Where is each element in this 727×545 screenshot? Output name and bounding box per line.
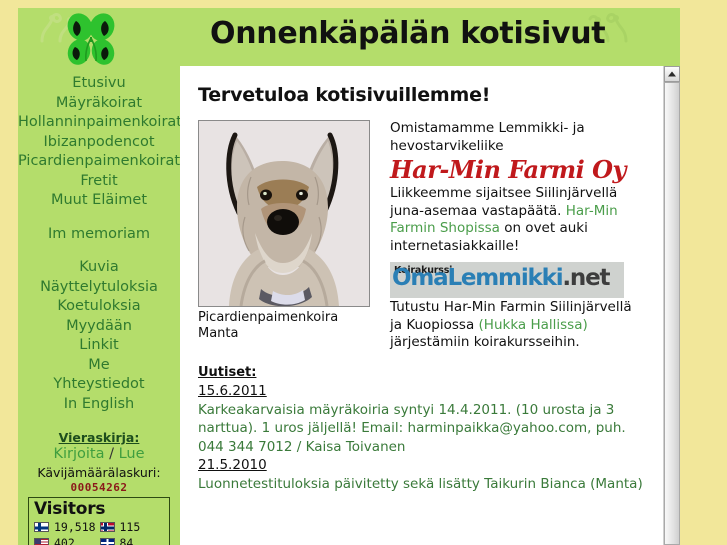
photo-column: Picardienpaimenkoira Manta xyxy=(198,120,390,341)
sidebar-item-hollanninpaimenkoirat[interactable]: Hollanninpaimenkoirat xyxy=(18,113,180,133)
flag-counter-cell-united-kingdom: 84 xyxy=(100,536,166,545)
flag-counter-row: 19,518 115 xyxy=(34,519,165,535)
news-item-date: 15.6.2011 xyxy=(198,382,267,401)
flag-icon-finland xyxy=(34,522,49,532)
frame-band-left xyxy=(0,0,18,545)
visitor-counter-digits: 00054262 xyxy=(18,481,180,494)
hukka-halli-link[interactable]: (Hukka Hallissa) xyxy=(479,317,588,333)
sidebar-item-mayrakoirat[interactable]: Mäyräkoirat xyxy=(18,94,180,114)
four-leaf-clover-icon xyxy=(58,11,124,67)
sidebar-item-myydaan[interactable]: Myydään xyxy=(18,317,180,337)
scrollbar-thumb[interactable] xyxy=(664,82,680,545)
intro-line-1: Omistamamme Lemmikki- ja xyxy=(390,120,646,138)
guestbook-heading: Vieraskirja: xyxy=(18,430,180,445)
triangle-up-icon xyxy=(668,72,676,77)
scrollbar-track[interactable] xyxy=(664,82,680,545)
banner-name: OmaLemmikki xyxy=(392,265,562,291)
flag-counter-count: 84 xyxy=(120,536,134,545)
course-paragraph: Tutustu Har-Min Farmin Siilinjärvellä ja… xyxy=(390,299,646,352)
sidebar-item-me[interactable]: Me xyxy=(18,356,180,376)
flag-counter-cell-united-states: 402 xyxy=(34,536,100,545)
sidebar-item-linkit[interactable]: Linkit xyxy=(18,336,180,356)
intro-paragraph: Liikkeemme sijaitsee Siilinjärvellä juna… xyxy=(390,185,646,255)
news-item: 21.5.2010 Luonnetestituloksia päivitetty… xyxy=(198,456,646,493)
flag-counter-count: 19,518 xyxy=(54,520,96,535)
site-header: Onnenkäpälän kotisivut xyxy=(18,8,680,66)
sidebar: Etusivu Mäyräkoirat Hollanninpaimenkoira… xyxy=(18,66,180,545)
guestbook-separator: / xyxy=(104,446,118,462)
content-panel: Tervetuloa kotisivuillemme! xyxy=(180,66,680,545)
sidebar-item-nayttelytuloksia[interactable]: Näyttelytuloksia xyxy=(18,278,180,298)
news-item: 15.6.2011 Karkeakarvaisia mäyräkoiria sy… xyxy=(198,382,646,456)
frame-band-top xyxy=(0,0,727,8)
flag-icon-united-kingdom xyxy=(100,538,115,545)
sidebar-nav: Etusivu Mäyräkoirat Hollanninpaimenkoira… xyxy=(18,66,180,414)
sidebar-item-kuvia[interactable]: Kuvia xyxy=(18,258,180,278)
intro-text-column: Omistamamme Lemmikki- ja hevostarvikelii… xyxy=(390,120,646,352)
guestbook-read-link[interactable]: Lue xyxy=(119,446,145,462)
intro-section: Picardienpaimenkoira Manta Omistamamme L… xyxy=(198,120,646,352)
news-section: Uutiset: 15.6.2011 Karkeakarvaisia mäyrä… xyxy=(198,364,646,494)
flag-counter-cell-finland: 19,518 xyxy=(34,520,100,535)
nav-spacer-1 xyxy=(18,211,180,225)
news-item-text: Karkeakarvaisia mäyräkoiria syntyi 14.4.… xyxy=(198,401,646,457)
page-root: Onnenkäpälän kotisivut Etusivu Mäyräkoir… xyxy=(0,0,727,545)
flag-counter-cell-norway: 115 xyxy=(100,520,166,535)
guestbook-write-link[interactable]: Kirjoita xyxy=(53,446,104,462)
nav-spacer-2 xyxy=(18,244,180,258)
photo-caption: Picardienpaimenkoira Manta xyxy=(198,310,390,341)
sidebar-item-muut-elaimet[interactable]: Muut Eläimet xyxy=(18,191,180,211)
banner-tld: .net xyxy=(562,265,609,291)
content-body: Tervetuloa kotisivuillemme! xyxy=(180,66,664,545)
sidebar-item-fretit[interactable]: Fretit xyxy=(18,172,180,192)
sidebar-item-im-memoriam[interactable]: Im memoriam xyxy=(18,225,180,245)
guestbook-links: Kirjoita / Lue xyxy=(18,445,180,464)
sidebar-item-ibizanpodencot[interactable]: Ibizanpodencot xyxy=(18,133,180,153)
harmin-farmi-logo: Har-Min Farmi Oy xyxy=(390,156,646,184)
sidebar-item-picardienpaimenkoirat[interactable]: Picardienpaimenkoirat xyxy=(18,152,180,172)
page-title: Onnenkäpälän kotisivut xyxy=(210,16,605,51)
content-scrollbar[interactable] xyxy=(663,66,680,545)
course-text-after-link: järjestämiin koirakursseihin. xyxy=(390,334,580,350)
sidebar-item-etusivu[interactable]: Etusivu xyxy=(18,74,180,94)
flag-counter-title: Visitors xyxy=(34,500,165,519)
content-heading: Tervetuloa kotisivuillemme! xyxy=(198,84,646,106)
sidebar-item-koetuloksia[interactable]: Koetuloksia xyxy=(18,297,180,317)
flag-counter-count: 402 xyxy=(54,536,75,545)
intro-line-2: hevostarvikeliike xyxy=(390,138,646,156)
photo-caption-line1: Picardienpaimenkoira xyxy=(198,310,390,326)
photo-caption-line2: Manta xyxy=(198,326,390,342)
visitor-counter-label: Kävijämäärälaskuri: xyxy=(18,464,180,481)
dog-photo-frame xyxy=(198,120,370,307)
news-item-text: Luonnetestituloksia päivitetty sekä lisä… xyxy=(198,475,646,494)
omalemmikki-banner[interactable]: Koirakurssi OmaLemmikki.net xyxy=(390,262,624,298)
scrollbar-up-button[interactable] xyxy=(664,66,680,82)
flag-counter-count: 115 xyxy=(120,520,141,535)
news-heading: Uutiset: xyxy=(198,364,646,383)
news-item-date: 21.5.2010 xyxy=(198,456,267,475)
dog-photo-picardy-shepherd xyxy=(199,121,369,306)
sidebar-item-yhteystiedot[interactable]: Yhteystiedot xyxy=(18,375,180,395)
banner-main-label: OmaLemmikki.net xyxy=(392,270,609,288)
flag-icon-norway xyxy=(100,522,115,532)
frame-band-right xyxy=(680,0,727,545)
flag-icon-united-states xyxy=(34,538,49,545)
flag-counter-row: 402 84 xyxy=(34,535,165,545)
flag-counter-widget[interactable]: Visitors 19,518 115 402 xyxy=(28,497,170,545)
sidebar-item-in-english[interactable]: In English xyxy=(18,395,180,415)
